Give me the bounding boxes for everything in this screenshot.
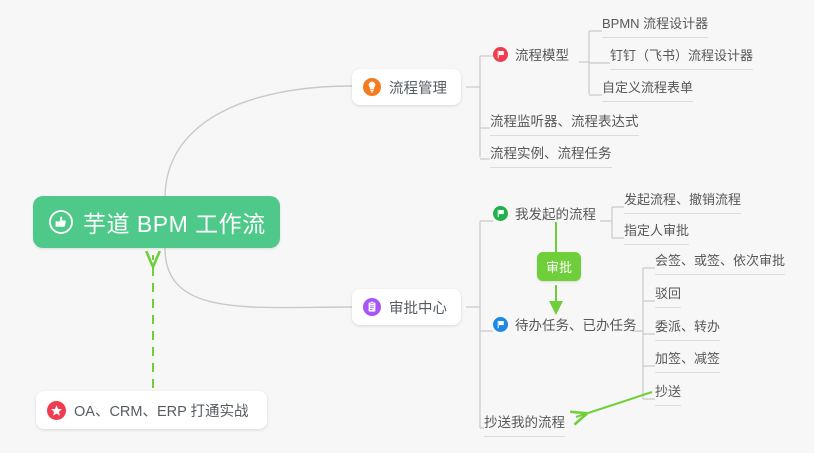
approval-flow-badge: 审批 — [537, 252, 581, 281]
leaf-label-cc-to-me-process: 抄送我的流程 — [484, 411, 565, 431]
leaf-reject[interactable]: 驳回 — [655, 283, 681, 308]
leaf-process-instance[interactable]: 流程实例、流程任务 — [490, 142, 612, 168]
flag-icon — [493, 206, 508, 221]
leaf-label-my-initiated-process: 我发起的流程 — [515, 203, 596, 223]
leaf-delegate-transfer[interactable]: 委派、转办 — [655, 316, 720, 341]
branch-node-approval-center[interactable]: 审批中心 — [352, 289, 461, 325]
flag-icon — [493, 47, 508, 62]
flag-icon — [493, 317, 508, 332]
leaf-countersign[interactable]: 会签、或签、依次审批 — [655, 250, 785, 275]
note-node-integration[interactable]: OA、CRM、ERP 打通实战 — [36, 391, 267, 429]
star-icon — [47, 401, 66, 420]
branch-node-process-management[interactable]: 流程管理 — [352, 69, 461, 105]
root-label: 芋道 BPM 工作流 — [83, 205, 266, 239]
leaf-custom-form[interactable]: 自定义流程表单 — [602, 77, 693, 102]
note-label-integration: OA、CRM、ERP 打通实战 — [74, 400, 249, 421]
root-node[interactable]: 芋道 BPM 工作流 — [33, 196, 280, 248]
leaf-assignee-approval[interactable]: 指定人审批 — [624, 220, 689, 245]
leaf-process-listener[interactable]: 流程监听器、流程表达式 — [490, 110, 639, 136]
mindmap-canvas: 芋道 BPM 工作流 流程管理 审批中心 — [0, 0, 814, 453]
lightbulb-icon — [363, 78, 381, 96]
leaf-label-process-instance: 流程实例、流程任务 — [490, 142, 612, 162]
branch-label-process-management: 流程管理 — [389, 77, 447, 98]
link-root-to-process-management — [165, 86, 352, 198]
leaf-todo-done-tasks[interactable]: 待办任务、已办任务 — [493, 314, 637, 339]
clipboard-icon — [363, 298, 381, 316]
thumbs-up-icon — [49, 210, 73, 234]
leaf-my-initiated-process[interactable]: 我发起的流程 — [493, 203, 596, 228]
leaf-label-process-model: 流程模型 — [515, 44, 569, 64]
leaf-add-remove-sign[interactable]: 加签、减签 — [655, 348, 720, 373]
leaf-start-cancel-process[interactable]: 发起流程、撤销流程 — [624, 189, 741, 214]
leaf-carbon-copy[interactable]: 抄送 — [655, 381, 681, 406]
leaf-label-todo-done-tasks: 待办任务、已办任务 — [515, 314, 637, 334]
leaf-label-process-listener: 流程监听器、流程表达式 — [490, 110, 639, 130]
leaf-bpmn-designer[interactable]: BPMN 流程设计器 — [602, 13, 708, 38]
leaf-process-model[interactable]: 流程模型 — [493, 44, 569, 69]
branch-label-approval-center: 审批中心 — [389, 297, 447, 318]
leaf-cc-to-me-process[interactable]: 抄送我的流程 — [484, 411, 565, 437]
flow-arrow-cc-to-ccflow — [576, 392, 652, 417]
leaf-dingtalk-designer[interactable]: 钉钉（飞书）流程设计器 — [610, 45, 753, 70]
link-root-to-approval-center — [165, 248, 352, 308]
